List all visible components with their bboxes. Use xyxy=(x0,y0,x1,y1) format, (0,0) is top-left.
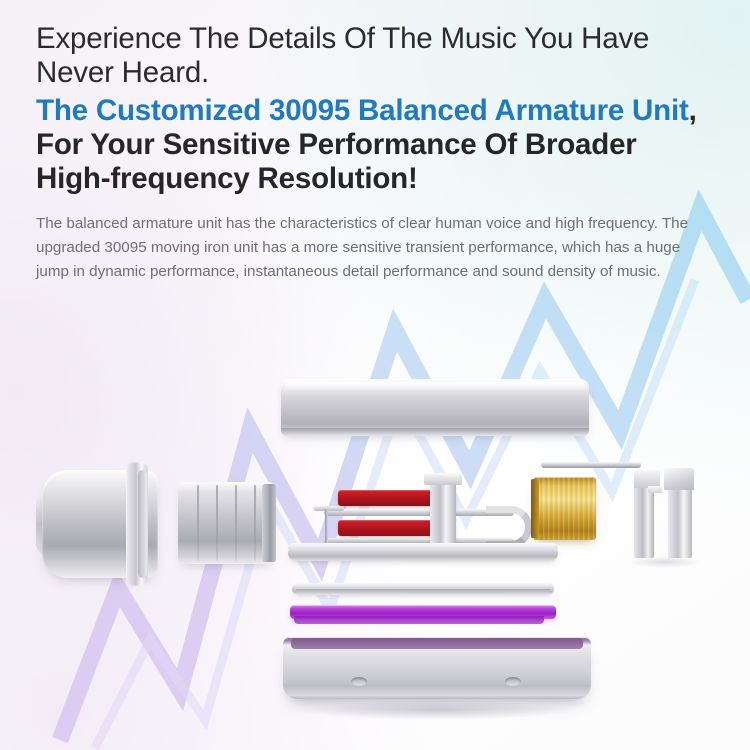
ribbed-cylinder-part xyxy=(178,482,274,564)
exploded-diagram xyxy=(0,0,750,750)
copper-voice-coil-edge xyxy=(531,479,539,538)
armature-bracket-left-notch xyxy=(648,486,662,493)
lower-magnet-part xyxy=(338,520,436,536)
armature-center-block-top xyxy=(424,473,462,485)
base-plate-part xyxy=(288,545,558,561)
upper-magnet-part xyxy=(338,490,436,506)
armature-bracket-right-head xyxy=(664,468,694,490)
bottom-housing-inner-rim xyxy=(291,638,583,649)
housing-dimple-right xyxy=(505,677,521,686)
secondary-plate-edge xyxy=(296,589,550,594)
top-cover-bevel xyxy=(281,428,589,436)
sound-nozzle-flange-inner xyxy=(138,470,147,578)
ribbed-cylinder-cap xyxy=(262,484,276,562)
armature-u-bend xyxy=(486,506,532,548)
armature-bracket-shadow xyxy=(628,556,702,568)
drive-pin-tee xyxy=(314,506,344,511)
housing-dimple-left xyxy=(351,677,367,686)
copper-voice-coil-part xyxy=(533,477,596,540)
product-feature-page: Experience The Details Of The Music You … xyxy=(0,0,750,750)
thin-rod-part xyxy=(541,462,641,468)
armature-center-block xyxy=(430,481,456,551)
top-cover-part xyxy=(281,379,589,435)
purple-diaphragm-underside xyxy=(294,616,544,624)
bottom-housing-shadow xyxy=(300,700,575,720)
